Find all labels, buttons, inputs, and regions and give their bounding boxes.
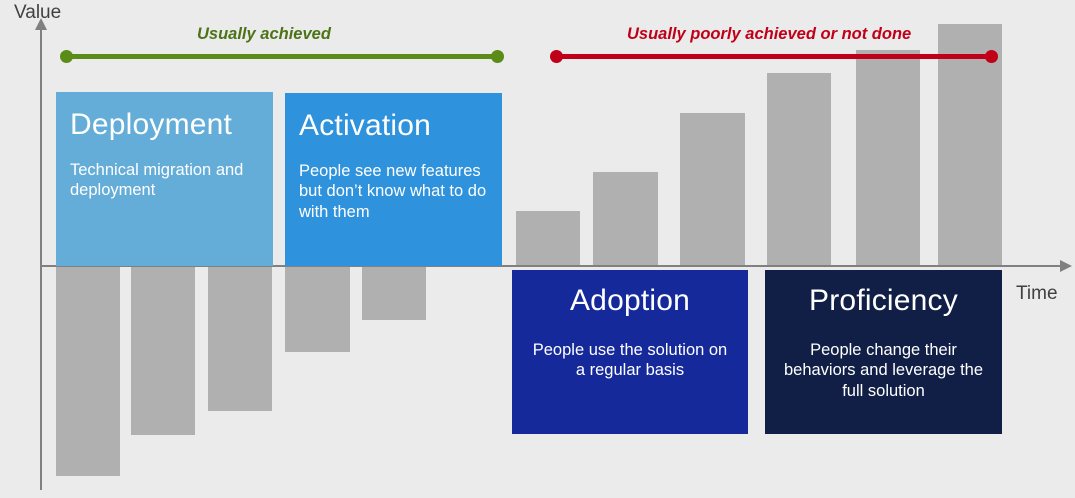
value-axis-label: Value [14, 2, 61, 24]
bar [680, 113, 745, 266]
time-axis-arrow-icon [1060, 260, 1072, 272]
bar [516, 211, 580, 266]
stage-description-adoption: People use the solution on a regular bas… [526, 340, 734, 381]
stage-box-activation[interactable]: ActivationPeople see new features but do… [285, 93, 502, 266]
time-axis-label: Time [1016, 283, 1058, 305]
bar [767, 73, 831, 266]
bar [131, 266, 195, 435]
bracket-usually-achieved [64, 54, 500, 59]
stage-title-proficiency: Proficiency [779, 284, 988, 318]
stage-box-adoption[interactable]: AdoptionPeople use the solution on a reg… [512, 270, 748, 434]
stage-title-activation: Activation [299, 109, 488, 143]
stage-description-deployment: Technical migration and deployment [70, 160, 259, 201]
bracket-usually-poorly-achieved [554, 54, 994, 59]
bar [593, 172, 658, 266]
bracket-label-usually-poorly-achieved: Usually poorly achieved or not done [627, 25, 911, 44]
stage-description-activation: People see new features but don’t know w… [299, 161, 488, 223]
bar [362, 266, 426, 320]
bracket-label-usually-achieved: Usually achieved [197, 25, 331, 44]
bracket-endpoint-dot-icon [985, 50, 998, 63]
bracket-endpoint-dot-icon [60, 50, 73, 63]
bar [285, 266, 350, 352]
bar [856, 50, 920, 266]
stage-title-deployment: Deployment [70, 108, 259, 142]
bracket-endpoint-dot-icon [550, 50, 563, 63]
stage-title-adoption: Adoption [526, 284, 734, 318]
bar [56, 266, 120, 476]
adoption-maturity-diagram: Value Time Usually achievedUsually poorl… [0, 0, 1075, 498]
stage-box-deployment[interactable]: DeploymentTechnical migration and deploy… [56, 92, 273, 266]
stage-box-proficiency[interactable]: ProficiencyPeople change their behaviors… [765, 270, 1002, 434]
stage-description-proficiency: People change their behaviors and levera… [779, 340, 988, 402]
bar [208, 266, 272, 411]
value-axis-line [40, 28, 42, 490]
bracket-endpoint-dot-icon [491, 50, 504, 63]
